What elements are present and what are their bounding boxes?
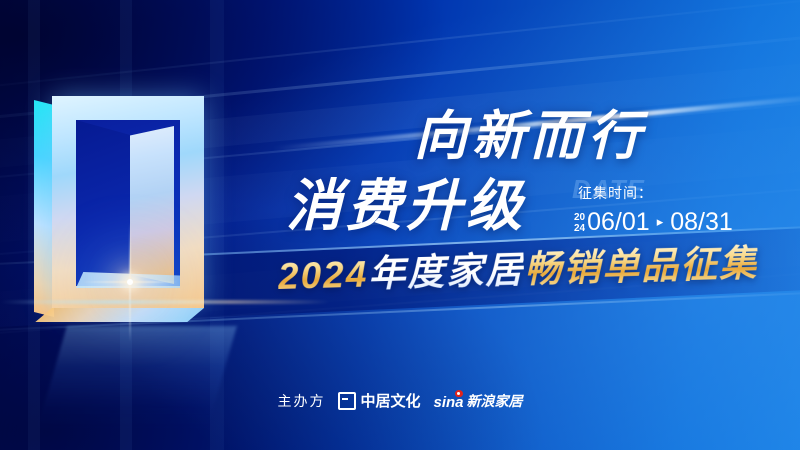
sponsor-label: 主办方 [277,394,325,408]
floor-glow-line [0,300,330,304]
sina-logo-icon: sina [434,392,464,410]
date-end: 08/31 [670,210,733,235]
headline-primary: 向新而行 [414,110,646,163]
submission-date-block: DATE 征集时间： 20 24 06/01 ▸ 08/31 [572,176,792,240]
door-reflection [37,326,237,430]
date-label: 征集时间： [578,186,653,200]
sponsor-sina: sina 新浪家居 [434,392,523,410]
zhongju-logo-icon [338,392,356,410]
subtitle-tail: 畅销单品征集 [524,243,759,291]
promo-banner: 向新而行 消费升级 DATE 征集时间： 20 24 06/01 ▸ 08/31… [0,0,800,450]
date-year-bottom: 24 [574,224,585,234]
subtitle-year: 2024 [277,253,368,297]
door-portal-illustration [34,96,244,396]
sponsor-zhongju-name: 中居文化 [360,394,420,409]
door-frame-side [34,100,54,317]
date-start: 06/01 [587,210,650,235]
door-open-leaf [130,126,174,284]
sina-eye-icon [455,390,463,397]
date-year-stacked: 20 24 [574,213,585,233]
sponsor-row: 主办方 中居文化 sina 新浪家居 [0,392,800,410]
door-frame-base [35,308,204,322]
door-interior-wall [76,120,130,286]
sponsor-sina-name: 新浪家居 [467,394,523,408]
subtitle-mid: 年度家居 [368,249,525,294]
star-flare-icon [127,279,133,285]
headline-secondary: 消费升级 [286,178,526,234]
date-arrow-icon: ▸ [657,214,664,230]
sponsor-zhongju: 中居文化 [338,392,420,410]
date-range-row: 20 24 06/01 ▸ 08/31 [574,210,733,235]
